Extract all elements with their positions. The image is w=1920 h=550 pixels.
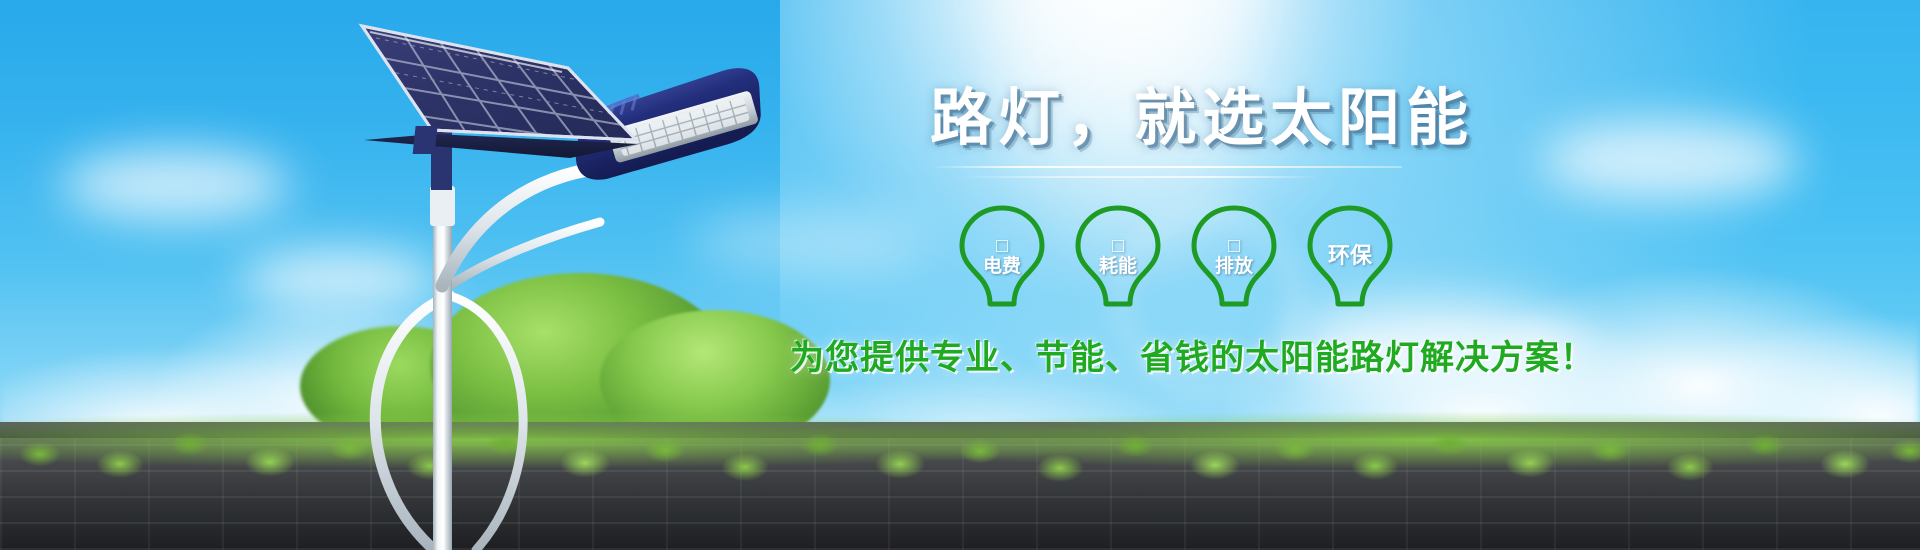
feature-bulb-zero-emission[interactable]: □ 排放 <box>1188 204 1280 308</box>
feature-label: 环保 <box>1328 243 1372 268</box>
banner-copy: 路灯，就选太阳能 □ 电费 □ 耗能 <box>930 88 1550 379</box>
tagline: 为您提供专业、节能、省钱的太阳能路灯解决方案！ <box>790 330 1550 379</box>
feature-label: 排放 <box>1215 256 1253 277</box>
feature-bulb-text: □ 电费 <box>983 236 1021 276</box>
pole-decorative-loops <box>375 222 600 550</box>
feature-lead: □ <box>1099 236 1137 256</box>
feature-label: 电费 <box>983 256 1021 277</box>
headline-divider-secondary <box>960 176 1320 178</box>
feature-bulb-zero-energy-consumption[interactable]: □ 耗能 <box>1072 204 1164 308</box>
feature-bulb-text: □ 耗能 <box>1099 236 1137 276</box>
feature-bulb-text: 环保 <box>1328 243 1372 268</box>
solar-street-light-banner: 路灯，就选太阳能 □ 电费 □ 耗能 <box>0 0 1920 550</box>
feature-bulb-list: □ 电费 □ 耗能 □ 排放 <box>956 204 1550 308</box>
panel-mount-bracket <box>413 126 438 154</box>
cloud-wisp-3 <box>1540 120 1800 200</box>
solar-panel <box>342 22 652 158</box>
solar-street-lamp <box>300 0 820 550</box>
feature-lead: □ <box>983 236 1021 256</box>
feature-label: 耗能 <box>1099 256 1137 277</box>
feature-bulb-eco-friendly[interactable]: 环保 <box>1304 204 1396 308</box>
pole-collar <box>430 186 455 226</box>
headline-divider-primary <box>930 166 1402 168</box>
feature-bulb-text: □ 排放 <box>1215 236 1253 276</box>
headline: 路灯，就选太阳能 <box>930 88 1550 150</box>
feature-lead: □ <box>1215 236 1253 256</box>
feature-bulb-zero-electricity-cost[interactable]: □ 电费 <box>956 204 1048 308</box>
